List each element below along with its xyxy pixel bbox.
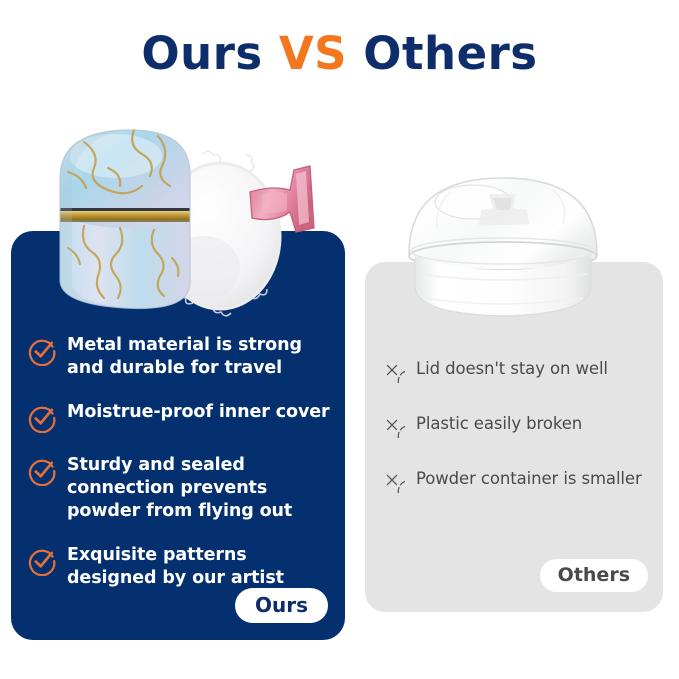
title-word-ours: Ours: [141, 27, 278, 80]
check-circle-icon: [27, 336, 57, 366]
cons-list: Lid doesn't stay on well Plastic easily …: [365, 356, 663, 521]
list-item: Metal material is strong and durable for…: [27, 334, 331, 380]
list-item-label: Powder container is smaller: [416, 466, 642, 490]
others-badge: Others: [540, 559, 648, 592]
list-item-label: Exquisite patterns designed by our artis…: [67, 544, 331, 590]
list-item-label: Moistrue-proof inner cover: [67, 401, 330, 424]
pros-list: Metal material is strong and durable for…: [11, 334, 345, 611]
comparison-infographic: Ours VS Others Metal material is strong …: [0, 0, 679, 679]
list-item-label: Plastic easily broken: [416, 411, 582, 435]
list-item-label: Sturdy and sealed connection prevents po…: [67, 454, 331, 523]
list-item-label: Metal material is strong and durable for…: [67, 334, 331, 380]
title-word-vs: VS: [279, 27, 363, 80]
ours-product-image: [38, 108, 358, 318]
title-word-others: Others: [363, 27, 537, 80]
list-item: Exquisite patterns designed by our artis…: [27, 544, 331, 590]
x-circle-icon: [379, 357, 405, 383]
check-circle-icon: [27, 546, 57, 576]
list-item: Moistrue-proof inner cover: [27, 401, 331, 433]
check-circle-icon: [27, 456, 57, 486]
list-item: Lid doesn't stay on well: [379, 356, 653, 383]
x-circle-icon: [379, 467, 405, 493]
check-circle-icon: [27, 403, 57, 433]
list-item: Sturdy and sealed connection prevents po…: [27, 454, 331, 523]
list-item-label: Lid doesn't stay on well: [416, 356, 608, 380]
list-item: Powder container is smaller: [379, 466, 653, 493]
list-item: Plastic easily broken: [379, 411, 653, 438]
page-title: Ours VS Others: [0, 26, 679, 82]
others-product-image: [393, 158, 613, 323]
ours-badge: Ours: [235, 588, 328, 623]
x-circle-icon: [379, 412, 405, 438]
